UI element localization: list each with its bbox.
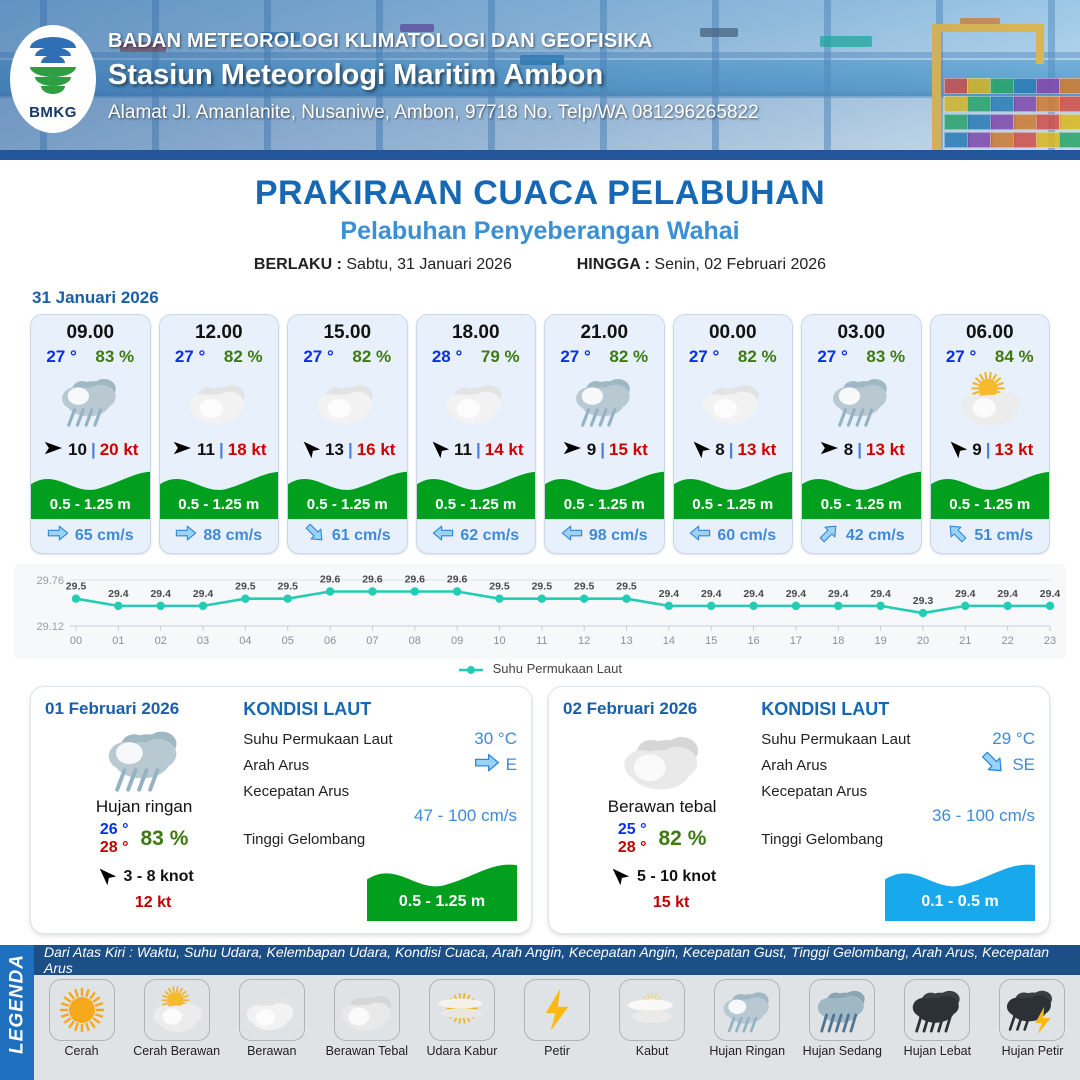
wind-separator: | — [857, 440, 862, 460]
sea-conditions-title: KONDISI LAUT — [761, 699, 1035, 720]
wind-direction-arrow-icon — [818, 437, 840, 463]
card-time: 18.00 — [417, 315, 536, 344]
svg-text:29.5: 29.5 — [235, 581, 256, 593]
current-speed-label: Kecepatan Arus — [243, 783, 517, 800]
card-temp-hum: 27 ° 84 % — [931, 344, 1050, 367]
svg-text:17: 17 — [790, 635, 802, 647]
day-forecast-panel: 01 Februari 2026 Hujan ringan 26 ° 28 ° … — [30, 686, 532, 934]
card-wind: 11 | 18 kt — [160, 433, 279, 467]
svg-text:29.5: 29.5 — [66, 581, 87, 593]
current-speed: 42 cm/s — [846, 527, 905, 545]
hujan-lebat-icon — [904, 979, 970, 1041]
page-subtitle: Pelabuhan Penyeberangan Wahai — [0, 217, 1080, 246]
card-current: 88 cm/s — [160, 519, 279, 553]
legend-items: Cerah Cerah Berawan Berawan Berawan Teba… — [34, 975, 1080, 1080]
legend-strip: LEGENDA Dari Atas Kiri : Waktu, Suhu Uda… — [0, 945, 1080, 1080]
hujan-ringan-icon — [31, 367, 150, 433]
card-humidity: 82 % — [224, 347, 263, 367]
current-direction-arrow-icon — [175, 524, 197, 547]
legend-item-label: Udara Kabur — [414, 1044, 509, 1058]
legend-caption: Dari Atas Kiri : Waktu, Suhu Udara, Kele… — [44, 944, 1080, 976]
card-temperature: 27 ° — [303, 347, 333, 367]
berlaku-label: BERLAKU : — [254, 256, 342, 273]
day-temp-column: 25 ° 28 ° — [618, 821, 647, 858]
current-direction-arrow-icon — [432, 524, 454, 547]
current-speed: 62 cm/s — [460, 527, 519, 545]
legend-item: Hujan Ringan — [700, 979, 795, 1058]
forecast-card: 00.00 27 ° 82 % 8 | 13 kt 0.5 - 1.25 m — [673, 314, 794, 554]
day-temp-max: 28 ° — [100, 839, 129, 857]
svg-text:29.4: 29.4 — [659, 588, 680, 600]
wave-height-label: Tinggi Gelombang — [243, 831, 517, 848]
legend-item-label: Cerah — [34, 1044, 129, 1058]
svg-text:22: 22 — [1002, 635, 1014, 647]
title-block: PRAKIRAAN CUACA PELABUHAN Pelabuhan Peny… — [0, 174, 1080, 274]
legend-item-label: Hujan Sedang — [795, 1044, 890, 1058]
day-left-column: 01 Februari 2026 Hujan ringan 26 ° 28 ° … — [45, 699, 243, 921]
wind-separator: | — [986, 440, 991, 460]
card-wind: 9 | 15 kt — [545, 433, 664, 467]
svg-text:29.5: 29.5 — [532, 581, 553, 593]
day-temp-min: 26 ° — [100, 821, 129, 839]
day-sea-conditions: KONDISI LAUT Suhu Permukaan Laut 29 °C A… — [761, 699, 1035, 921]
card-wave-height: 0.5 - 1.25 m — [545, 467, 664, 519]
card-wave-height: 0.5 - 1.25 m — [417, 467, 536, 519]
wind-gust: 13 kt — [994, 440, 1033, 460]
wave-height-value: 0.5 - 1.25 m — [31, 496, 150, 513]
card-time: 15.00 — [288, 315, 407, 344]
card-current: 98 cm/s — [545, 519, 664, 553]
current-direction-arrow-icon — [980, 752, 1006, 777]
svg-text:29.4: 29.4 — [701, 588, 722, 600]
hujan-ringan-icon — [45, 721, 243, 795]
svg-text:29.4: 29.4 — [193, 588, 214, 600]
card-current: 61 cm/s — [288, 519, 407, 553]
berawan-icon — [239, 979, 305, 1041]
wind-gust: 15 kt — [609, 440, 648, 460]
legend-item: Cerah — [34, 979, 129, 1058]
day-wind-gust: 12 kt — [45, 894, 243, 912]
card-wave-height: 0.5 - 1.25 m — [288, 467, 407, 519]
svg-text:15: 15 — [705, 635, 717, 647]
card-temp-hum: 27 ° 82 % — [288, 344, 407, 367]
current-speed-value: 36 - 100 cm/s — [761, 806, 1035, 826]
legend-item: Hujan Sedang — [795, 979, 890, 1058]
wave-height-row: Tinggi Gelombang — [243, 826, 517, 852]
svg-text:29.5: 29.5 — [278, 581, 299, 593]
card-wave-height: 0.5 - 1.25 m — [160, 467, 279, 519]
card-time: 09.00 — [31, 315, 150, 344]
svg-text:10: 10 — [493, 635, 505, 647]
forecast-card: 18.00 28 ° 79 % 11 | 14 kt 0.5 - 1.25 m — [416, 314, 537, 554]
card-current: 62 cm/s — [417, 519, 536, 553]
card-current: 51 cm/s — [931, 519, 1050, 553]
chart-legend-label: Suhu Permukaan Laut — [493, 661, 622, 676]
wind-gust: 18 kt — [228, 440, 267, 460]
berlaku-value: Sabtu, 31 Januari 2026 — [346, 256, 511, 273]
day-wind: 3 - 8 knot — [45, 864, 243, 891]
legend-item-label: Hujan Lebat — [890, 1044, 985, 1058]
cerah-icon — [49, 979, 115, 1041]
wave-height-row: Tinggi Gelombang — [761, 826, 1035, 852]
card-current: 65 cm/s — [31, 519, 150, 553]
day-date: 02 Februari 2026 — [563, 699, 761, 719]
wind-separator: | — [219, 440, 224, 460]
svg-text:16: 16 — [747, 635, 759, 647]
berawan-icon — [160, 367, 279, 433]
svg-text:29.6: 29.6 — [447, 574, 468, 586]
svg-text:29.4: 29.4 — [955, 588, 976, 600]
svg-text:29.4: 29.4 — [870, 588, 891, 600]
sst-label: Suhu Permukaan Laut — [243, 731, 474, 748]
wind-direction-arrow-icon — [689, 437, 711, 463]
current-direction-arrow-icon — [818, 524, 840, 547]
day-wind: 5 - 10 knot — [563, 864, 761, 891]
legend-caption-bar: Dari Atas Kiri : Waktu, Suhu Udara, Kele… — [34, 945, 1080, 975]
svg-text:18: 18 — [832, 635, 844, 647]
berawan-tebal-icon — [563, 721, 761, 795]
current-direction-value-group: SE — [980, 752, 1035, 777]
svg-text:29.12: 29.12 — [36, 621, 64, 633]
svg-text:12: 12 — [578, 635, 590, 647]
sst-chart: 29.7629.1229.50029.40129.40229.40329.504… — [14, 564, 1066, 659]
day-left-column: 02 Februari 2026 Berawan tebal 25 ° 28 °… — [563, 699, 761, 921]
forecast-card: 03.00 27 ° 83 % 8 | 13 kt 0.5 - 1.25 m — [801, 314, 922, 554]
card-humidity: 83 % — [95, 347, 134, 367]
wind-direction-arrow-icon — [299, 437, 321, 463]
header-bottom-bar — [0, 150, 1080, 160]
svg-text:14: 14 — [663, 635, 675, 647]
legend-item-label: Berawan — [224, 1044, 319, 1058]
current-direction-value: SE — [1012, 755, 1035, 775]
day-date: 01 Februari 2026 — [45, 699, 243, 719]
card-time: 12.00 — [160, 315, 279, 344]
hujan-ringan-icon — [545, 367, 664, 433]
legend-item-label: Cerah Berawan — [129, 1044, 224, 1058]
station-name: Stasiun Meteorologi Maritim Ambon — [108, 59, 759, 92]
svg-text:00: 00 — [70, 635, 82, 647]
card-temperature: 27 ° — [946, 347, 976, 367]
svg-text:29.5: 29.5 — [574, 581, 595, 593]
wind-speed: 11 — [197, 440, 215, 460]
wind-separator: | — [348, 440, 353, 460]
wind-direction-arrow-icon — [95, 864, 117, 891]
card-temp-hum: 27 ° 83 % — [31, 344, 150, 367]
day-wind-range: 5 - 10 knot — [637, 868, 716, 886]
hourly-forecast-cards: 09.00 27 ° 83 % 10 | 20 kt 0.5 - 1.25 m — [0, 314, 1080, 554]
hujan-petir-icon — [999, 979, 1065, 1041]
sst-value: 29 °C — [992, 729, 1035, 749]
legend-side-label: LEGENDA — [7, 952, 29, 1057]
card-temperature: 27 ° — [689, 347, 719, 367]
day-wave-value: 0.1 - 0.5 m — [885, 893, 1035, 911]
page-title: PRAKIRAAN CUACA PELABUHAN — [0, 174, 1080, 213]
svg-text:20: 20 — [917, 635, 929, 647]
wind-separator: | — [600, 440, 605, 460]
current-direction-label: Arah Arus — [761, 757, 980, 774]
wind-gust: 13 kt — [737, 440, 776, 460]
logo-text: BMKG — [29, 104, 77, 121]
svg-text:23: 23 — [1044, 635, 1056, 647]
wave-height-value: 0.5 - 1.25 m — [417, 496, 536, 513]
wind-direction-arrow-icon — [561, 437, 583, 463]
day-temperatures: 25 ° 28 ° 82 % — [563, 821, 761, 858]
svg-text:19: 19 — [874, 635, 886, 647]
card-wave-height: 0.5 - 1.25 m — [31, 467, 150, 519]
svg-text:04: 04 — [239, 635, 251, 647]
wind-direction-arrow-icon — [42, 437, 64, 463]
day-humidity: 82 % — [659, 827, 707, 851]
day-temperatures: 26 ° 28 ° 83 % — [45, 821, 243, 858]
current-direction-row: Arah Arus E — [243, 752, 517, 778]
current-direction-arrow-icon — [946, 524, 968, 547]
wind-speed: 8 — [844, 440, 853, 460]
current-direction-arrow-icon — [47, 524, 69, 547]
legend-side-tab: LEGENDA — [0, 945, 34, 1080]
wind-speed: 10 — [68, 440, 87, 460]
day-temp-max: 28 ° — [618, 839, 647, 857]
svg-text:06: 06 — [324, 635, 336, 647]
wind-gust: 13 kt — [866, 440, 905, 460]
daily-forecast-panels: 01 Februari 2026 Hujan ringan 26 ° 28 ° … — [0, 676, 1080, 934]
day-temp-min: 25 ° — [618, 821, 647, 839]
day-humidity: 83 % — [141, 827, 189, 851]
card-humidity: 82 % — [609, 347, 648, 367]
svg-text:29.4: 29.4 — [1040, 588, 1061, 600]
wind-direction-arrow-icon — [946, 437, 968, 463]
current-speed: 65 cm/s — [75, 527, 134, 545]
svg-text:29.3: 29.3 — [913, 595, 934, 607]
legend-item-label: Hujan Ringan — [700, 1044, 795, 1058]
current-speed: 98 cm/s — [589, 527, 648, 545]
udara-kabur-icon — [429, 979, 495, 1041]
wind-speed: 8 — [715, 440, 724, 460]
current-direction-arrow-icon — [561, 524, 583, 547]
wave-height-value: 0.5 - 1.25 m — [674, 496, 793, 513]
legend-item: Petir — [509, 979, 604, 1058]
wind-separator: | — [476, 440, 481, 460]
card-temperature: 27 ° — [817, 347, 847, 367]
sst-row: Suhu Permukaan Laut 30 °C — [243, 726, 517, 752]
svg-text:21: 21 — [959, 635, 971, 647]
day-temp-column: 26 ° 28 ° — [100, 821, 129, 858]
svg-text:29.4: 29.4 — [743, 588, 764, 600]
current-direction-value: E — [506, 755, 517, 775]
card-humidity: 82 % — [352, 347, 391, 367]
berawan-icon — [417, 367, 536, 433]
wind-speed: 13 — [325, 440, 344, 460]
chart-legend-swatch — [458, 664, 484, 676]
page-header: BMKG BADAN METEOROLOGI KLIMATOLOGI DAN G… — [0, 0, 1080, 160]
legend-item-label: Kabut — [605, 1044, 700, 1058]
wave-height-value: 0.5 - 1.25 m — [931, 496, 1050, 513]
svg-text:29.4: 29.4 — [150, 588, 171, 600]
svg-text:03: 03 — [197, 635, 209, 647]
legend-item: Kabut — [605, 979, 700, 1058]
svg-text:05: 05 — [282, 635, 294, 647]
day-sea-conditions: KONDISI LAUT Suhu Permukaan Laut 30 °C A… — [243, 699, 517, 921]
wave-height-value: 0.5 - 1.25 m — [160, 496, 279, 513]
legend-item: Udara Kabur — [414, 979, 509, 1058]
logo-green-arcs — [30, 67, 76, 101]
card-humidity: 84 % — [995, 347, 1034, 367]
hingga-value: Senin, 02 Februari 2026 — [654, 256, 826, 273]
svg-text:09: 09 — [451, 635, 463, 647]
card-wind: 10 | 20 kt — [31, 433, 150, 467]
forecast-card: 12.00 27 ° 82 % 11 | 18 kt 0.5 - 1.25 m — [159, 314, 280, 554]
current-speed-label: Kecepatan Arus — [761, 783, 1035, 800]
card-temp-hum: 27 ° 82 % — [545, 344, 664, 367]
legend-item-label: Berawan Tebal — [319, 1044, 414, 1058]
cerah-berawan-icon — [931, 367, 1050, 433]
wind-separator: | — [91, 440, 96, 460]
svg-text:29.6: 29.6 — [362, 574, 383, 586]
day-forecast-panel: 02 Februari 2026 Berawan tebal 25 ° 28 °… — [548, 686, 1050, 934]
sst-row: Suhu Permukaan Laut 29 °C — [761, 726, 1035, 752]
svg-text:29.76: 29.76 — [36, 575, 64, 587]
wave-height-value: 0.5 - 1.25 m — [545, 496, 664, 513]
current-direction-row: Arah Arus SE — [761, 752, 1035, 778]
chart-legend: Suhu Permukaan Laut — [0, 661, 1080, 676]
legend-item: Hujan Lebat — [890, 979, 985, 1058]
wave-height-label: Tinggi Gelombang — [761, 831, 1035, 848]
svg-text:07: 07 — [366, 635, 378, 647]
wind-direction-arrow-icon — [171, 437, 193, 463]
card-current: 60 cm/s — [674, 519, 793, 553]
legend-item: Cerah Berawan — [129, 979, 224, 1058]
forecast-date-label: 31 Januari 2026 — [32, 288, 1080, 308]
wave-height-value: 0.5 - 1.25 m — [288, 496, 407, 513]
hujan-ringan-icon — [802, 367, 921, 433]
cerah-berawan-icon — [144, 979, 210, 1041]
current-speed: 88 cm/s — [203, 527, 262, 545]
card-wave-height: 0.5 - 1.25 m — [931, 467, 1050, 519]
agency-name: BADAN METEOROLOGI KLIMATOLOGI DAN GEOFIS… — [108, 30, 759, 53]
wind-direction-arrow-icon — [608, 864, 630, 891]
sst-label: Suhu Permukaan Laut — [761, 731, 992, 748]
wind-separator: | — [729, 440, 734, 460]
logo-blue-arcs — [30, 37, 76, 65]
card-temp-hum: 27 ° 82 % — [160, 344, 279, 367]
svg-text:29.5: 29.5 — [616, 581, 637, 593]
card-time: 00.00 — [674, 315, 793, 344]
forecast-card: 15.00 27 ° 82 % 13 | 16 kt 0.5 - 1.25 m — [287, 314, 408, 554]
svg-text:01: 01 — [112, 635, 124, 647]
svg-text:29.4: 29.4 — [108, 588, 129, 600]
hingga-label: HINGGA : — [577, 256, 650, 273]
card-humidity: 83 % — [866, 347, 905, 367]
svg-text:29.4: 29.4 — [828, 588, 849, 600]
berawan-icon — [674, 367, 793, 433]
current-direction-arrow-icon — [304, 524, 326, 547]
forecast-card: 06.00 27 ° 84 % 9 | 13 kt 0.5 - 1.25 m — [930, 314, 1051, 554]
card-current: 42 cm/s — [802, 519, 921, 553]
day-condition: Hujan ringan — [45, 797, 243, 817]
wind-gust: 16 kt — [357, 440, 396, 460]
sst-chart-svg: 29.7629.1229.50029.40129.40229.40329.504… — [14, 564, 1066, 659]
day-wind-gust: 15 kt — [563, 894, 761, 912]
svg-text:29.6: 29.6 — [405, 574, 426, 586]
current-speed: 61 cm/s — [332, 527, 391, 545]
wind-speed: 9 — [587, 440, 596, 460]
current-speed-row: Kecepatan Arus — [243, 778, 517, 804]
svg-text:29.5: 29.5 — [489, 581, 510, 593]
day-wave-graphic: 0.1 - 0.5 m — [885, 859, 1035, 921]
wind-speed: 11 — [454, 440, 472, 460]
card-wind: 8 | 13 kt — [674, 433, 793, 467]
svg-text:13: 13 — [620, 635, 632, 647]
wind-gust: 20 kt — [100, 440, 139, 460]
current-speed: 60 cm/s — [717, 527, 776, 545]
berawan-tebal-icon — [334, 979, 400, 1041]
card-time: 06.00 — [931, 315, 1050, 344]
wind-direction-arrow-icon — [428, 437, 450, 463]
current-speed: 51 cm/s — [974, 527, 1033, 545]
card-temp-hum: 27 ° 83 % — [802, 344, 921, 367]
hujan-ringan-icon — [714, 979, 780, 1041]
validity-range: BERLAKU : Sabtu, 31 Januari 2026 HINGGA … — [0, 256, 1080, 274]
svg-text:08: 08 — [409, 635, 421, 647]
card-wind: 9 | 13 kt — [931, 433, 1050, 467]
current-direction-label: Arah Arus — [243, 757, 473, 774]
kabut-icon — [619, 979, 685, 1041]
card-time: 03.00 — [802, 315, 921, 344]
day-wave-graphic: 0.5 - 1.25 m — [367, 859, 517, 921]
legend-item: Hujan Petir — [985, 979, 1080, 1058]
bmkg-logo: BMKG — [10, 25, 96, 133]
svg-text:02: 02 — [155, 635, 167, 647]
wind-speed: 9 — [972, 440, 981, 460]
card-wave-height: 0.5 - 1.25 m — [674, 467, 793, 519]
legend-item-label: Petir — [509, 1044, 604, 1058]
card-humidity: 82 % — [738, 347, 777, 367]
legend-item: Berawan Tebal — [319, 979, 414, 1058]
card-temperature: 28 ° — [432, 347, 462, 367]
card-humidity: 79 % — [481, 347, 520, 367]
svg-text:29.4: 29.4 — [786, 588, 807, 600]
card-temperature: 27 ° — [46, 347, 76, 367]
day-wave-value: 0.5 - 1.25 m — [367, 893, 517, 911]
current-speed-value: 47 - 100 cm/s — [243, 806, 517, 826]
card-temp-hum: 27 ° 82 % — [674, 344, 793, 367]
card-wind: 13 | 16 kt — [288, 433, 407, 467]
berawan-icon — [288, 367, 407, 433]
wave-height-value: 0.5 - 1.25 m — [802, 496, 921, 513]
card-temperature: 27 ° — [175, 347, 205, 367]
svg-text:29.4: 29.4 — [997, 588, 1018, 600]
legend-item: Berawan — [224, 979, 319, 1058]
day-wind-range: 3 - 8 knot — [124, 868, 194, 886]
card-wind: 11 | 14 kt — [417, 433, 536, 467]
svg-text:11: 11 — [536, 635, 547, 647]
current-speed-row: Kecepatan Arus — [761, 778, 1035, 804]
card-temperature: 27 ° — [560, 347, 590, 367]
petir-icon — [524, 979, 590, 1041]
sea-conditions-title: KONDISI LAUT — [243, 699, 517, 720]
card-wind: 8 | 13 kt — [802, 433, 921, 467]
current-direction-value-group: E — [474, 752, 517, 777]
current-direction-arrow-icon — [689, 524, 711, 547]
card-time: 21.00 — [545, 315, 664, 344]
hujan-sedang-icon — [809, 979, 875, 1041]
svg-text:29.6: 29.6 — [320, 574, 341, 586]
card-wave-height: 0.5 - 1.25 m — [802, 467, 921, 519]
current-direction-arrow-icon — [474, 752, 500, 777]
forecast-card: 21.00 27 ° 82 % 9 | 15 kt 0.5 - 1.25 m — [544, 314, 665, 554]
sst-value: 30 °C — [474, 729, 517, 749]
station-address: Alamat Jl. Amanlanite, Nusaniwe, Ambon, … — [108, 102, 759, 124]
day-condition: Berawan tebal — [563, 797, 761, 817]
